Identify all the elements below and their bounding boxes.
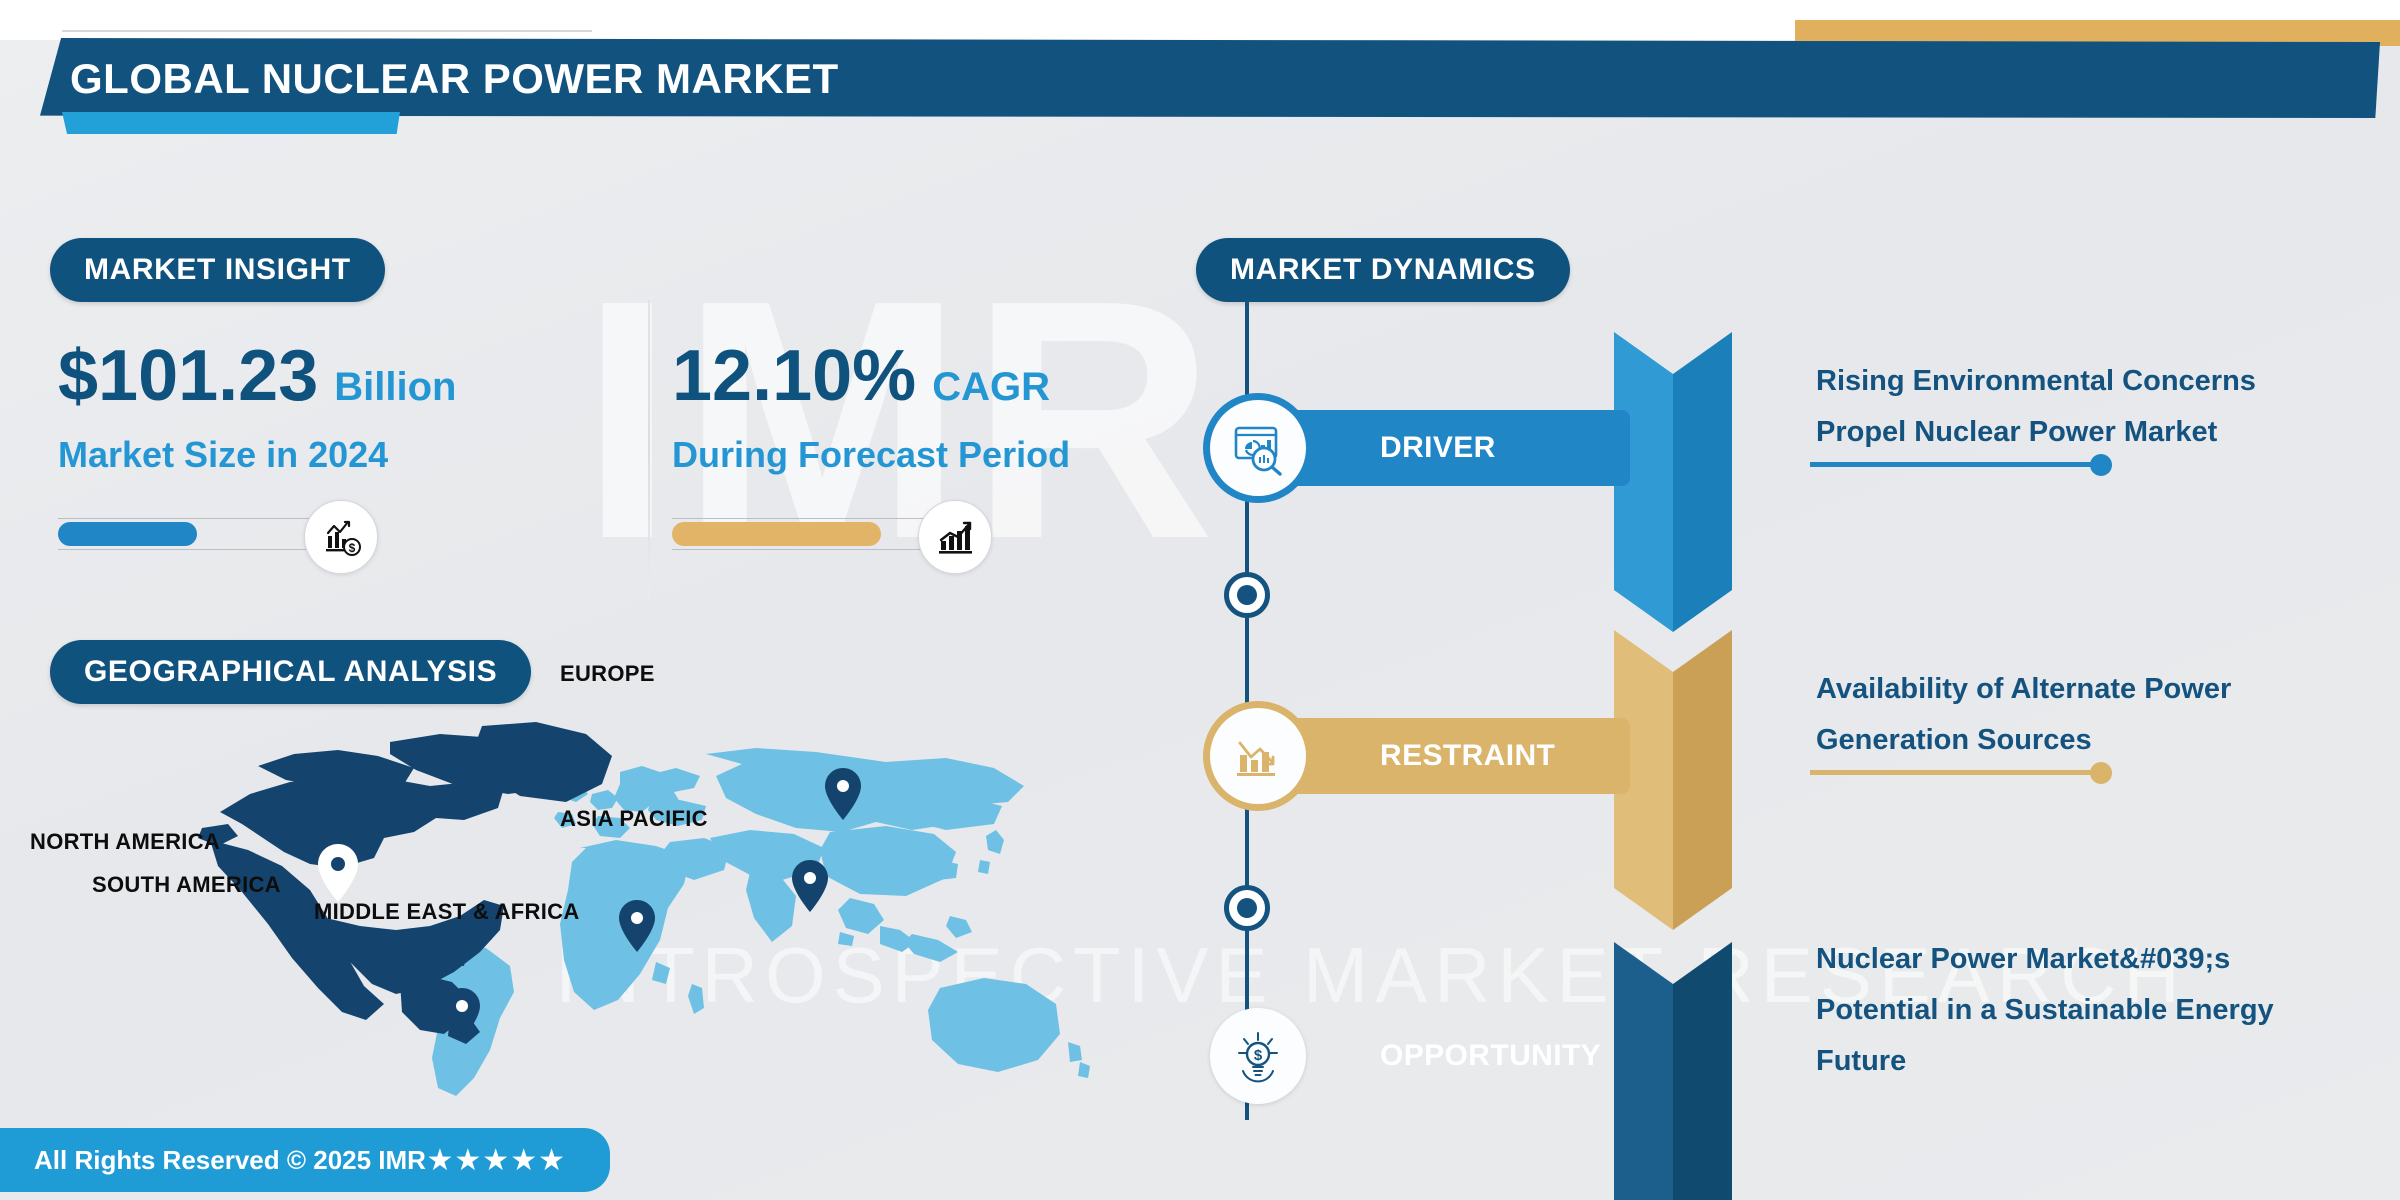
timeline-node-1 bbox=[1224, 572, 1270, 618]
declining-bar-chart-icon bbox=[1210, 708, 1306, 804]
driver-bar[interactable]: DRIVER bbox=[1262, 410, 1630, 486]
ribbon-opportunity bbox=[1614, 942, 1732, 1200]
progress-fill bbox=[672, 522, 881, 546]
restraint-bar[interactable]: RESTRAINT bbox=[1262, 718, 1630, 794]
stat-cagr: 12.10%CAGR During Forecast Period bbox=[672, 340, 1070, 562]
map-pin-asia-pacific bbox=[792, 860, 828, 912]
footer-bar: All Rights Reserved © 2025 IMR ★★★★★ bbox=[0, 1128, 610, 1192]
section-heading-market-dynamics: MARKET DYNAMICS bbox=[1196, 238, 1570, 302]
map-label-south-america: SOUTH AMERICA bbox=[92, 872, 281, 898]
growth-chart-arrow-icon bbox=[918, 500, 992, 574]
driver-label: DRIVER bbox=[1380, 431, 1496, 465]
ribbon-fold-right bbox=[1673, 630, 1732, 930]
description-line: Generation Sources bbox=[1816, 721, 2376, 760]
cagr-value: 12.10% bbox=[672, 340, 916, 412]
market-size-caption: Market Size in 2024 bbox=[58, 434, 456, 476]
description-line: Availability of Alternate Power bbox=[1816, 670, 2376, 709]
market-size-value: $101.23 bbox=[58, 340, 318, 412]
description-line: Nuclear Power Market&#039;s bbox=[1816, 940, 2376, 979]
map-pin-north-america bbox=[318, 844, 358, 902]
stat-market-size: $101.23Billion Market Size in 2024 bbox=[58, 340, 456, 562]
map-label-europe: EUROPE bbox=[560, 661, 655, 687]
timeline-node-2 bbox=[1224, 885, 1270, 931]
driver-description: Rising Environmental ConcernsPropel Nucl… bbox=[1816, 362, 2376, 464]
svg-text:$: $ bbox=[1254, 1047, 1263, 1064]
opportunity-description: Nuclear Power Market&#039;sPotential in … bbox=[1816, 940, 2376, 1093]
progress-fill bbox=[58, 522, 197, 546]
svg-text:$: $ bbox=[349, 541, 356, 555]
analytics-search-icon bbox=[1210, 400, 1306, 496]
opportunity-connector-dot bbox=[2090, 1092, 2112, 1114]
restraint-description: Availability of Alternate PowerGeneratio… bbox=[1816, 670, 2376, 772]
infographic-page: IMR INTROSPECTIVE MARKET RESEARCH GLOBAL… bbox=[0, 0, 2400, 1200]
cagr-caption: During Forecast Period bbox=[672, 434, 1070, 476]
map-label-north-america: NORTH AMERICA bbox=[30, 829, 220, 855]
section-heading-market-insight: MARKET INSIGHT bbox=[50, 238, 385, 302]
ribbon-restraint bbox=[1614, 630, 1732, 930]
description-line: Propel Nuclear Power Market bbox=[1816, 413, 2376, 452]
geo-analysis-label: GEOGRAPHICAL ANALYSIS bbox=[84, 655, 497, 689]
world-map bbox=[150, 720, 1170, 1100]
market-size-progress: $ bbox=[58, 506, 378, 562]
opportunity-bar[interactable]: OPPORTUNITY bbox=[1262, 1018, 1630, 1094]
rating-stars: ★★★★★ bbox=[427, 1143, 566, 1178]
cagr-progress bbox=[672, 506, 992, 562]
bar-chart-dollar-icon: $ bbox=[304, 500, 378, 574]
map-label-middle-east-africa: MIDDLE EAST & AFRICA bbox=[314, 899, 580, 925]
market-dynamics-label: MARKET DYNAMICS bbox=[1230, 253, 1536, 287]
opportunity-connector bbox=[1810, 1100, 2100, 1105]
header-rule bbox=[62, 30, 592, 32]
cagr-unit: CAGR bbox=[932, 367, 1050, 407]
description-line: Future bbox=[1816, 1042, 2376, 1081]
page-title: GLOBAL NUCLEAR POWER MARKET bbox=[70, 52, 1670, 106]
copyright-text: All Rights Reserved © 2025 IMR bbox=[34, 1145, 426, 1176]
lightbulb-dollar-icon: $ bbox=[1210, 1008, 1306, 1104]
section-heading-geographical-analysis: GEOGRAPHICAL ANALYSIS bbox=[50, 640, 531, 704]
opportunity-label: OPPORTUNITY bbox=[1380, 1039, 1601, 1073]
market-size-unit: Billion bbox=[334, 367, 456, 407]
market-insight-label: MARKET INSIGHT bbox=[84, 253, 351, 287]
ribbon-fold-right bbox=[1673, 942, 1732, 1200]
restraint-label: RESTRAINT bbox=[1380, 739, 1555, 773]
header-underbar bbox=[62, 112, 400, 134]
stat-divider bbox=[648, 300, 650, 600]
description-line: Potential in a Sustainable Energy bbox=[1816, 991, 2376, 1030]
ribbon-driver bbox=[1614, 332, 1732, 632]
description-line: Rising Environmental Concerns bbox=[1816, 362, 2376, 401]
ribbon-fold-right bbox=[1673, 332, 1732, 632]
map-label-asia-pacific: ASIA PACIFIC bbox=[560, 806, 708, 832]
